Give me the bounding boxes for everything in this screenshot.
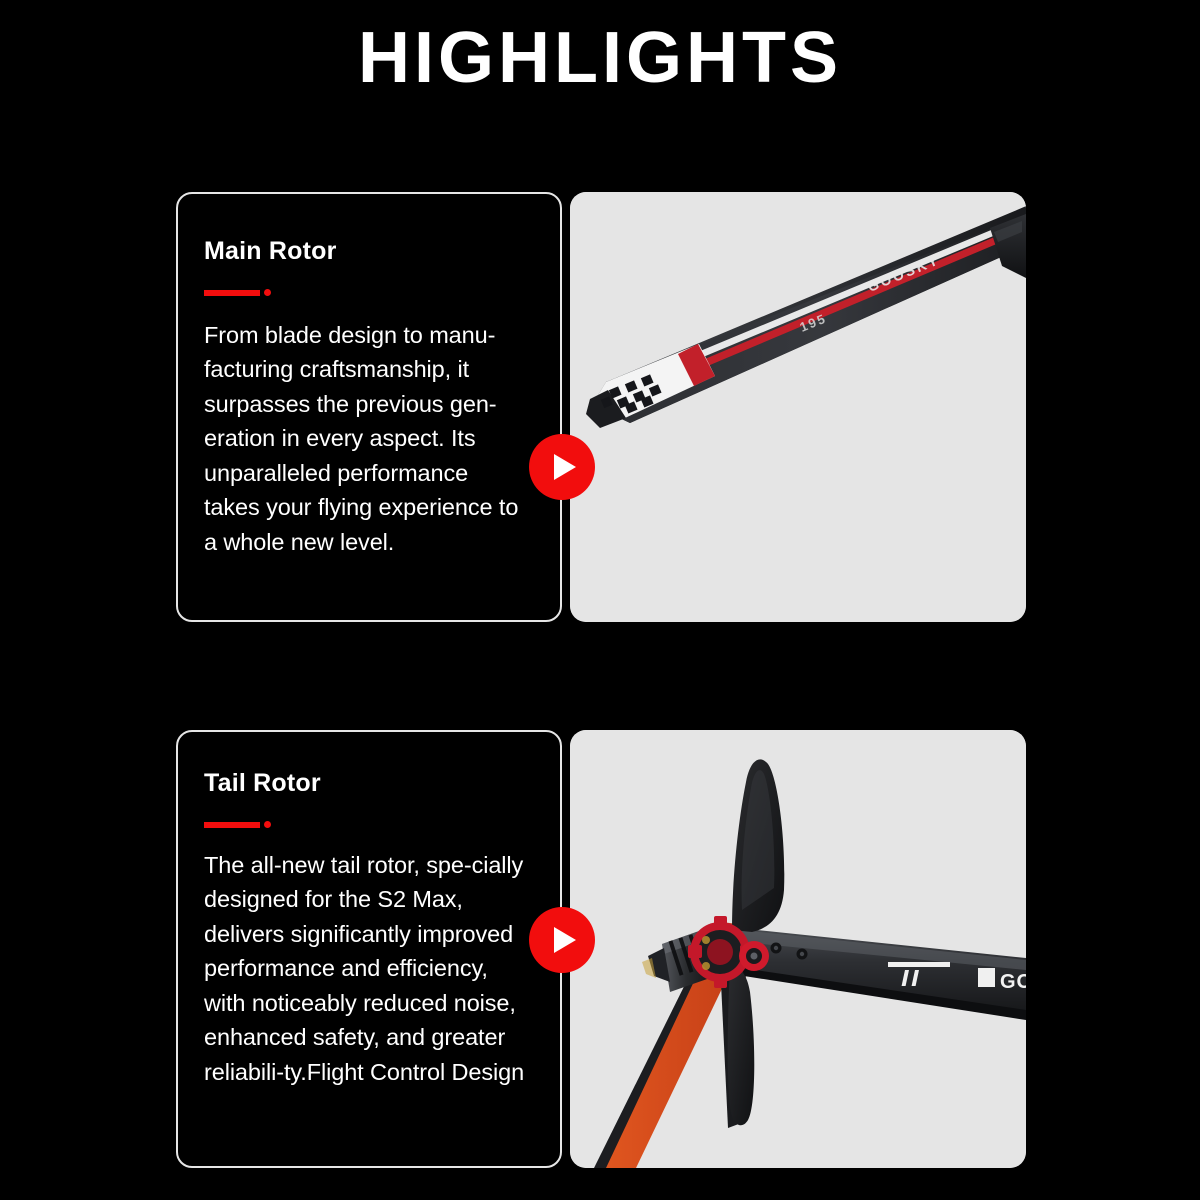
tail-rotor-heading: Tail Rotor bbox=[204, 770, 530, 798]
tail-rotor-image-panel: GO bbox=[570, 730, 1026, 1168]
play-triangle-icon bbox=[552, 926, 578, 954]
main-rotor-heading: Main Rotor bbox=[204, 238, 530, 266]
tail-rotor-text-card: Tail Rotor The all-new tail rotor, spe-c… bbox=[176, 730, 562, 1168]
main-rotor-image-panel: 195 GOOSKY bbox=[570, 192, 1026, 622]
main-rotor-body-text: From blade design to manu-facturing craf… bbox=[204, 318, 530, 560]
page-title: HIGHLIGHTS bbox=[0, 22, 1200, 94]
boom-brand-text: GO bbox=[1000, 971, 1026, 993]
main-rotor-text-card: Main Rotor From blade design to manu-fac… bbox=[176, 192, 562, 622]
main-rotor-play-button[interactable] bbox=[529, 434, 595, 500]
accent-dot-icon bbox=[264, 289, 271, 296]
accent-dot-icon bbox=[264, 821, 271, 828]
tail-rotor-body-text: The all-new tail rotor, spe-cially desig… bbox=[204, 848, 530, 1090]
main-rotor-blade-image: 195 GOOSKY bbox=[570, 192, 1026, 622]
accent-bar-icon bbox=[204, 822, 260, 828]
play-triangle-icon bbox=[552, 453, 578, 481]
tail-rotor-image: GO bbox=[570, 730, 1026, 1168]
feature-row-tail-rotor: Tail Rotor The all-new tail rotor, spe-c… bbox=[176, 730, 1026, 1168]
accent-rule bbox=[204, 288, 530, 298]
tail-rotor-play-button[interactable] bbox=[529, 907, 595, 973]
accent-rule bbox=[204, 820, 530, 830]
feature-row-main-rotor: Main Rotor From blade design to manu-fac… bbox=[176, 192, 1026, 622]
accent-bar-icon bbox=[204, 290, 260, 296]
